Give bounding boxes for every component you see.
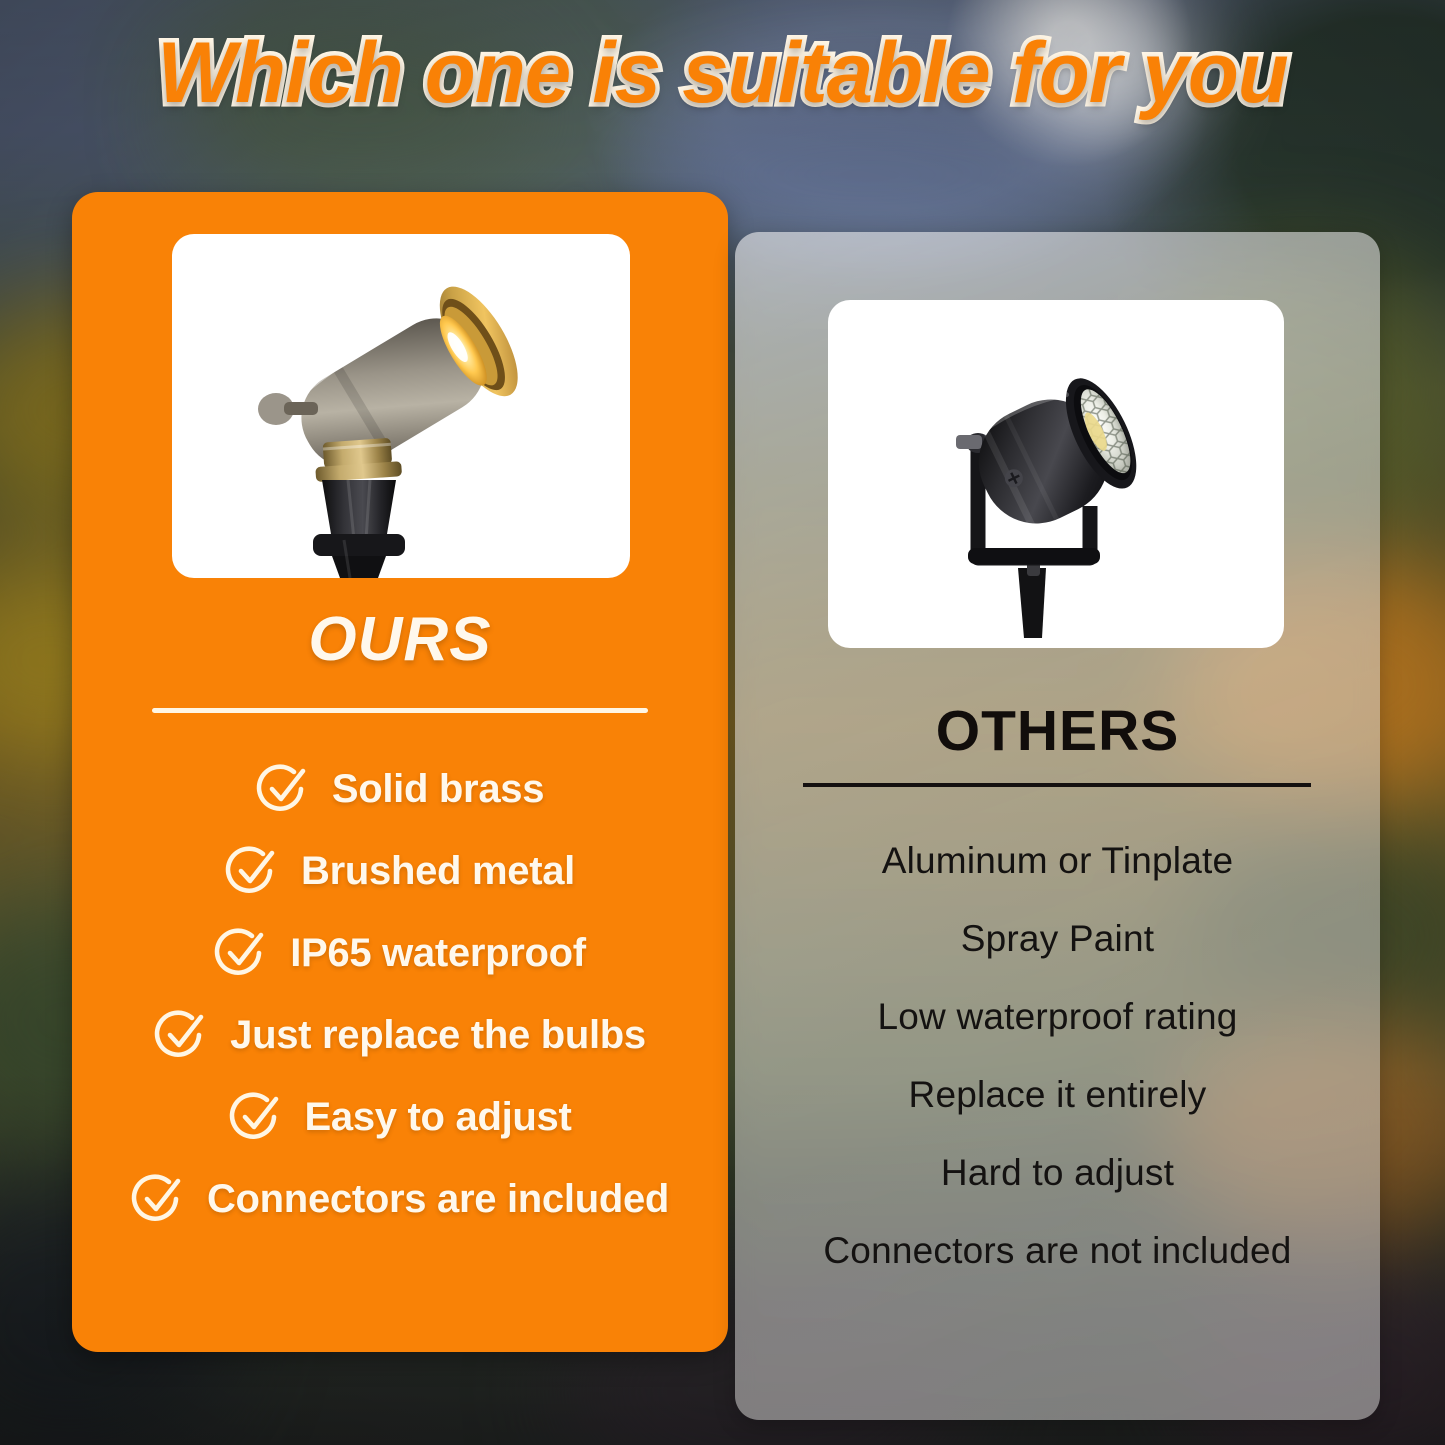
page-title: Which one is suitable for you — [22, 24, 1424, 123]
list-item: Replace it entirely — [909, 1074, 1207, 1116]
ours-card: OURS Solid brass Brushed metal — [72, 192, 728, 1352]
list-item-label: Brushed metal — [301, 849, 575, 894]
list-item: Easy to adjust — [229, 1090, 572, 1144]
brass-spotlight-illustration — [172, 234, 630, 578]
check-circle-icon — [225, 844, 279, 898]
list-item: Spray Paint — [961, 918, 1154, 960]
check-circle-icon — [214, 926, 268, 980]
check-circle-icon — [256, 762, 310, 816]
ours-label: OURS — [72, 604, 728, 675]
others-label: OTHERS — [735, 698, 1380, 764]
list-item-label: Easy to adjust — [305, 1095, 572, 1140]
list-item-label: Solid brass — [332, 767, 544, 812]
list-item: Aluminum or Tinplate — [882, 840, 1234, 882]
black-led-spotlight-illustration — [828, 300, 1284, 648]
list-item: Solid brass — [256, 762, 544, 816]
check-circle-icon — [229, 1090, 283, 1144]
ours-product-photo — [172, 234, 630, 578]
list-item: Connectors are included — [131, 1172, 669, 1226]
check-circle-icon — [131, 1172, 185, 1226]
others-product-photo — [828, 300, 1284, 648]
check-circle-icon — [154, 1008, 208, 1062]
others-divider — [803, 783, 1311, 787]
list-item-label: IP65 waterproof — [290, 931, 586, 976]
list-item: Hard to adjust — [941, 1152, 1174, 1194]
list-item: IP65 waterproof — [214, 926, 586, 980]
list-item-label: Connectors are included — [207, 1177, 669, 1222]
infographic-canvas: Which one is suitable for you — [0, 0, 1445, 1445]
others-card: OTHERS Aluminum or Tinplate Spray Paint … — [735, 232, 1380, 1420]
list-item: Just replace the bulbs — [154, 1008, 646, 1062]
list-item: Low waterproof rating — [878, 996, 1238, 1038]
others-feature-list: Aluminum or Tinplate Spray Paint Low wat… — [735, 840, 1380, 1272]
list-item-label: Just replace the bulbs — [230, 1013, 646, 1058]
list-item: Brushed metal — [225, 844, 575, 898]
ours-divider — [152, 708, 648, 713]
list-item: Connectors are not included — [823, 1230, 1291, 1272]
ours-feature-list: Solid brass Brushed metal IP65 waterproo… — [72, 762, 728, 1226]
